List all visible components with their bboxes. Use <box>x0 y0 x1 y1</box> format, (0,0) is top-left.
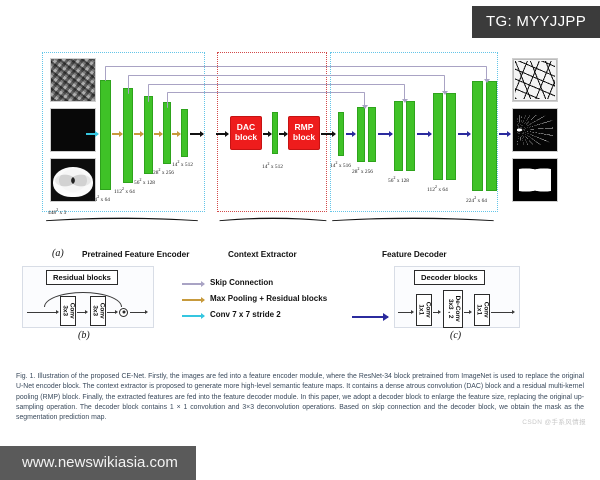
skip-connection-2-head <box>442 91 448 95</box>
decoder-conv-1x1-first: Conv1x1 <box>416 294 432 326</box>
encoder-feature-map-5 <box>181 109 188 157</box>
rmp-block-line2: block <box>293 133 315 143</box>
output-vessel-segmentation-image <box>512 108 558 152</box>
residual-sum-icon <box>119 308 128 317</box>
dac-block-line2: block <box>235 133 257 143</box>
decoder-conv-2-line2: 1x1 <box>476 305 483 316</box>
residual-conv-1-line1: Conv <box>69 303 76 319</box>
encoder-feature-map-2 <box>123 88 133 183</box>
residual-mid-arrowhead <box>85 310 88 314</box>
decoder-section-title: Feature Decoder <box>382 250 447 259</box>
decoder-feature-map-4b <box>446 93 456 180</box>
encoder-dim-label-4: 282 x 256 <box>153 167 174 176</box>
rmp-block: RMP block <box>288 116 320 150</box>
input-dim-label: 4482 x 3 <box>48 207 66 216</box>
csdn-watermark: CSDN @手系风情报 <box>522 416 586 426</box>
decoder-dim-label-4: 1122 x 64 <box>427 184 448 193</box>
output-image-stack <box>512 58 558 208</box>
encoder-dim-label-3: 562 x 128 <box>134 177 155 186</box>
residual-out-arrowhead <box>145 310 148 314</box>
decoder-panel-out-arrowhead <box>512 310 515 314</box>
decoder-feature-map-2a <box>357 107 365 162</box>
screenshot-root: TG: MYYJJPP 4482 x 3 <box>0 0 600 480</box>
decoder-conv-2-line1: Conv <box>483 302 490 318</box>
encoder-section-title: Pretrained Feature Encoder <box>82 250 189 259</box>
panel-c-letter: (c) <box>450 330 461 341</box>
encoder-dim-label-1: 2242 x 64 <box>89 194 110 203</box>
decoder-dim-label-2: 282 x 256 <box>352 166 373 175</box>
panel-b-letter: (b) <box>78 330 90 341</box>
residual-blocks-title: Residual blocks <box>46 270 118 285</box>
skip-connection-4 <box>167 92 365 108</box>
skip-connection-1-head <box>484 79 490 83</box>
residual-to-sum-arrowhead <box>115 310 118 314</box>
decoder-panel-in-line <box>398 312 412 313</box>
decoder-conv-1x1-second: Conv1x1 <box>474 294 490 326</box>
encoder-feature-map-4 <box>163 102 171 164</box>
residual-out-line <box>130 312 146 313</box>
residual-conv-2-line2: 3x3 <box>92 306 99 317</box>
legend-label-skip: Skip Connection <box>210 278 273 287</box>
decoder-dim-label-3: 562 x 128 <box>388 175 409 184</box>
decoder-panel-in-arrowhead <box>411 310 414 314</box>
context-mid-dim-label: 142 x 512 <box>262 161 283 170</box>
residual-conv-1: Conv3x3 <box>60 296 76 326</box>
residual-in-arrowhead <box>56 310 59 314</box>
decoder-feature-map-5a <box>472 81 483 191</box>
decoder-feature-map-3b <box>406 101 415 171</box>
decoder-deconv-line2: 3x3 , 2 <box>447 299 454 319</box>
decoder-blocks-title: Decoder blocks <box>414 270 485 285</box>
output-lung-mask-image <box>512 158 558 202</box>
legend-label-conv: Conv 7 x 7 stride 2 <box>210 310 281 319</box>
input-em-image <box>50 58 96 102</box>
decoder-panel-arrowhead-2 <box>438 310 441 314</box>
decoder-feature-map-2b <box>368 107 376 162</box>
decoder-panel-arrowhead-3 <box>469 310 472 314</box>
decoder-feature-map-3a <box>394 101 403 171</box>
decoder-deconv-3x3: De-Conv3x3 , 2 <box>443 290 463 328</box>
encoder-feature-map-1 <box>100 80 111 190</box>
output-em-segmentation-image <box>512 58 558 102</box>
decoder-feature-map-5b <box>486 81 497 191</box>
residual-conv-1-line2: 3x3 <box>62 306 69 317</box>
decoder-conv-1-line1: Conv <box>425 302 432 318</box>
decoder-dim-label-5: 2242 x 64 <box>466 195 487 204</box>
input-fundus-image <box>50 108 96 152</box>
residual-in-line <box>27 312 57 313</box>
tg-badge: TG: MYYJJPP <box>472 6 600 38</box>
encoder-dim-label-2: 1122 x 64 <box>114 186 135 195</box>
encoder-feature-map-3 <box>144 96 153 174</box>
decoder-feature-map-1 <box>338 112 344 156</box>
dac-block: DAC block <box>230 116 262 150</box>
residual-conv-2: Conv3x3 <box>90 296 106 326</box>
panel-a-letter: (a) <box>52 248 64 259</box>
decoder-panel-out-line <box>491 312 513 313</box>
decoder-deconv-line1: De-Conv <box>454 296 461 322</box>
skip-connection-4-head <box>362 105 368 109</box>
context-mid-feature-map <box>272 112 278 154</box>
encoder-dim-label-5: 142 x 512 <box>172 159 193 168</box>
figure-caption: Fig. 1. Illustration of the proposed CE-… <box>16 372 584 424</box>
skip-connection-3-head <box>402 99 408 103</box>
site-watermark: www.newswikiasia.com <box>0 446 196 480</box>
architecture-diagram: 4482 x 3 2242 x 64 1122 x 64 562 x 128 2… <box>0 44 600 224</box>
decoder-dim-label-1: 142 x 516 <box>330 160 351 169</box>
decoder-brace: ⏜ <box>0 218 600 237</box>
residual-conv-2-line1: Conv <box>99 303 106 319</box>
context-section-title: Context Extractor <box>228 250 297 259</box>
decoder-conv-1-line2: 1x1 <box>418 305 425 316</box>
legend-label-maxpool: Max Pooling + Residual blocks <box>210 294 327 303</box>
decoder-feature-map-4a <box>433 93 443 180</box>
